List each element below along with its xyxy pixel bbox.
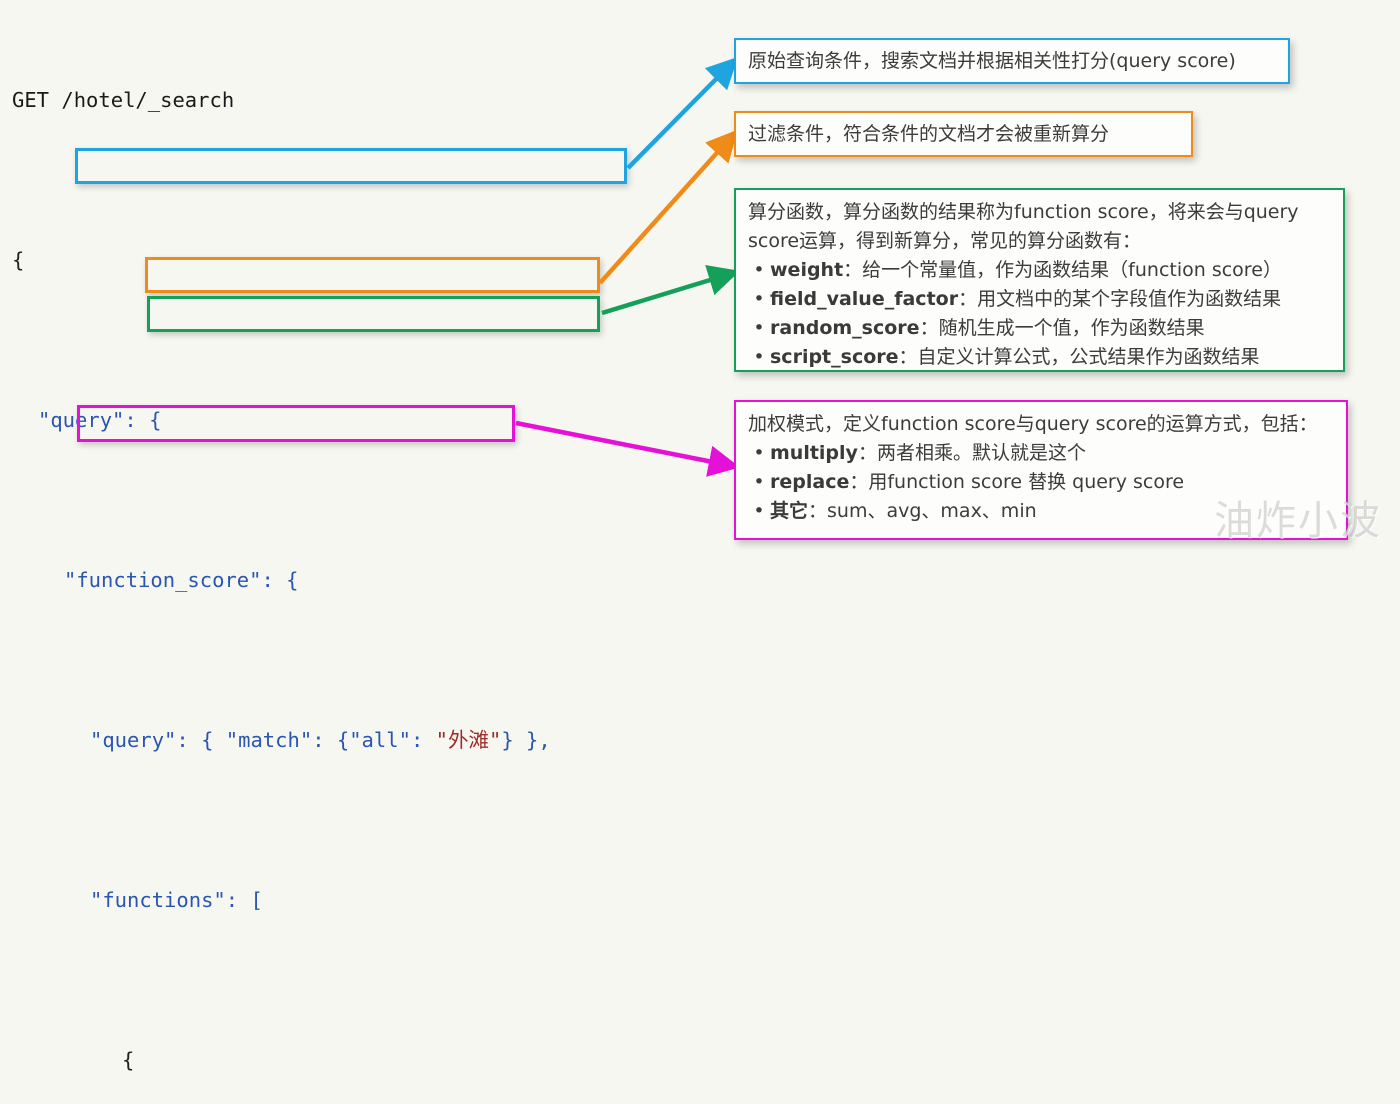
note-functions-bullet-field-value-factor: • field_value_factor：用文档中的某个字段值作为函数结果 (748, 285, 1333, 314)
bullet-term: script_score (770, 346, 899, 368)
code-line-3: "query": { "match": {"all": "外滩"} }, (0, 720, 700, 760)
bullet-desc: ：自定义计算公式，公式结果作为函数结果 (899, 346, 1260, 368)
bullet-dot-icon: • (748, 256, 770, 285)
bullet-term: 其它 (770, 500, 808, 522)
note-boost-mode-bullet-multiply: • multiply：两者相乘。默认就是这个 (748, 439, 1336, 468)
bullet-term: multiply (770, 442, 858, 464)
code-token: "function_score": { (64, 568, 299, 592)
screenshot-canvas: GET /hotel/_search { "query": { "functio… (0, 0, 1400, 552)
code-token: "functions": [ (90, 888, 263, 912)
bullet-desc: ：用文档中的某个字段值作为函数结果 (958, 288, 1281, 310)
note-boost-mode-line-1: 加权模式，定义function score与query score的运算方式，包… (748, 410, 1336, 439)
code-token-query-line: "query": { "match": {"all": "外滩"} }, (90, 728, 551, 752)
bullet-desc: ：用function score 替换 query score (849, 471, 1184, 493)
bullet-desc: ：sum、avg、max、min (808, 500, 1037, 522)
bullet-dot-icon: • (748, 439, 770, 468)
code-token: { (12, 248, 24, 272)
note-functions-bullet-script-score: • script_score：自定义计算公式，公式结果作为函数结果 (748, 343, 1333, 372)
bullet-desc: ：给一个常量值，作为函数结果（function score） (843, 259, 1282, 281)
bullet-desc: ：两者相乘。默认就是这个 (858, 442, 1086, 464)
bullet-dot-icon: • (748, 343, 770, 372)
weight-line-highlight (147, 296, 600, 332)
note-query-line: 原始查询条件，搜索文档并根据相关性打分(query score) (748, 47, 1236, 76)
bullet-dot-icon: • (748, 285, 770, 314)
note-functions-line-2: score运算，得到新算分，常见的算分函数有： (748, 227, 1333, 256)
bullet-dot-icon: • (748, 314, 770, 343)
note-functions-bullet-weight: • weight：给一个常量值，作为函数结果（function score） (748, 256, 1333, 285)
note-query: 原始查询条件，搜索文档并根据相关性打分(query score) (734, 38, 1290, 84)
bullet-term: replace (770, 471, 849, 493)
request-method-line: GET /hotel/_search (12, 88, 234, 112)
code-line-5: { (0, 1040, 700, 1080)
bullet-term: weight (770, 259, 843, 281)
code-line-2: "function_score": { (0, 560, 700, 600)
query-line-highlight (75, 148, 627, 184)
code-token: { (122, 1048, 134, 1072)
request-line: GET /hotel/_search (0, 80, 700, 120)
note-filter-line: 过滤条件，符合条件的文档才会被重新算分 (748, 120, 1109, 149)
note-functions-bullet-random-score: • random_score：随机生成一个值，作为函数结果 (748, 314, 1333, 343)
bullet-dot-icon: • (748, 497, 770, 526)
bullet-desc: ：随机生成一个值，作为函数结果 (920, 317, 1205, 339)
bullet-dot-icon: • (748, 468, 770, 497)
note-functions: 算分函数，算分函数的结果称为function score，将来会与query s… (734, 188, 1345, 372)
note-filter: 过滤条件，符合条件的文档才会被重新算分 (734, 111, 1193, 157)
bullet-term: random_score (770, 317, 920, 339)
bullet-term: field_value_factor (770, 288, 958, 310)
note-functions-line-1: 算分函数，算分函数的结果称为function score，将来会与query (748, 198, 1333, 227)
watermark: 油炸小波 (1214, 488, 1382, 546)
code-line-4: "functions": [ (0, 880, 700, 920)
filter-line-highlight (145, 257, 600, 293)
boost-mode-line-highlight (77, 405, 515, 442)
